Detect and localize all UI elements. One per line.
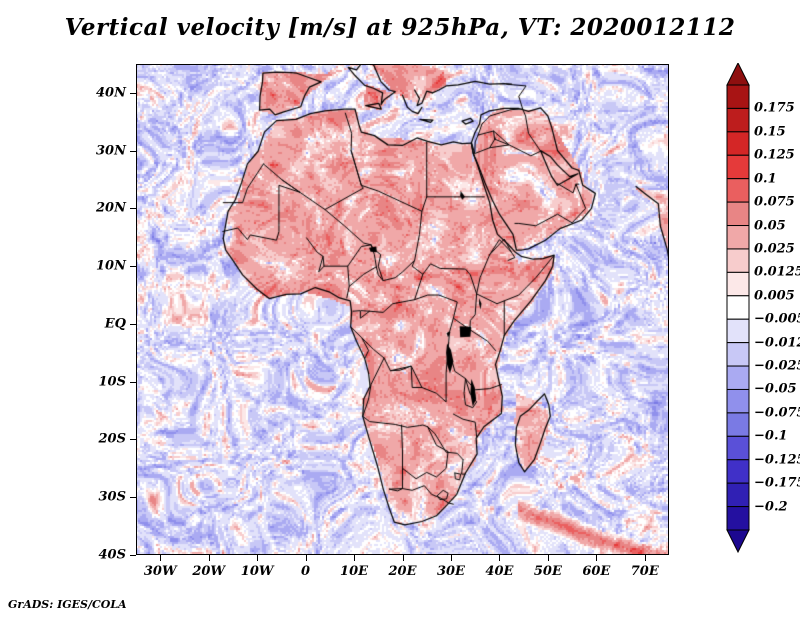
- colorbar-cell[interactable]: [727, 108, 749, 131]
- colorbar-tick-label: 0.05: [754, 218, 786, 233]
- y-axis-tick: [130, 324, 136, 325]
- x-axis-label: 50E: [534, 564, 562, 579]
- colorbar-tick-label: −0.1: [754, 429, 788, 444]
- colorbar-tick-label: −0.005: [754, 312, 800, 327]
- y-axis-tick: [130, 151, 136, 152]
- y-axis-label: 30S: [74, 490, 126, 505]
- y-axis-label: 20N: [74, 201, 126, 216]
- x-axis-label: 10W: [241, 564, 274, 579]
- colorbar-tick-label: 0.15: [754, 124, 786, 139]
- colorbar-cell[interactable]: [727, 296, 749, 319]
- colorbar-swatches: [726, 63, 750, 556]
- y-axis-tick: [130, 382, 136, 383]
- x-axis-label: 20W: [192, 564, 225, 579]
- y-axis-tick: [130, 439, 136, 440]
- x-axis-label: 0: [301, 564, 310, 579]
- x-axis-label: 70E: [631, 564, 659, 579]
- colorbar-tick-label: 0.025: [754, 241, 795, 256]
- x-axis-tick: [451, 555, 452, 561]
- y-axis-label: 40N: [74, 85, 126, 100]
- colorbar-cell[interactable]: [727, 483, 749, 506]
- colorbar-cell[interactable]: [727, 319, 749, 342]
- grads-plot-page: Vertical velocity [m/s] at 925hPa, VT: 2…: [0, 0, 800, 618]
- y-axis-label: 10N: [74, 259, 126, 274]
- x-axis-label: 40E: [485, 564, 513, 579]
- x-axis-label: 60E: [582, 564, 610, 579]
- x-axis-tick: [403, 555, 404, 561]
- colorbar-tick-label: −0.075: [754, 405, 800, 420]
- colorbar-cell[interactable]: [727, 132, 749, 155]
- colorbar-cell[interactable]: [727, 436, 749, 459]
- colorbar-cell[interactable]: [727, 85, 749, 108]
- x-axis-label: 20E: [389, 564, 417, 579]
- colorbar-cap-bottom: [727, 530, 749, 552]
- x-axis-label: 30E: [437, 564, 465, 579]
- coastline-border-overlay: [136, 64, 669, 555]
- x-axis-tick: [645, 555, 646, 561]
- y-axis-tick: [130, 266, 136, 267]
- y-axis-tick: [130, 208, 136, 209]
- y-axis-tick: [130, 93, 136, 94]
- x-axis-tick: [354, 555, 355, 561]
- colorbar-tick-label: 0.175: [754, 101, 795, 116]
- y-axis-label: 40S: [74, 548, 126, 563]
- x-axis-tick: [209, 555, 210, 561]
- colorbar-cell[interactable]: [727, 249, 749, 272]
- colorbar-tick-label: 0.0125: [754, 265, 800, 280]
- x-axis-tick: [257, 555, 258, 561]
- x-axis-tick: [306, 555, 307, 561]
- colorbar-cell[interactable]: [727, 272, 749, 295]
- x-axis-tick: [499, 555, 500, 561]
- x-axis-label: 10E: [340, 564, 368, 579]
- colorbar-cell[interactable]: [727, 507, 749, 530]
- y-axis-tick: [130, 555, 136, 556]
- colorbar-cell[interactable]: [727, 413, 749, 436]
- y-axis-label: EQ: [74, 316, 126, 331]
- colorbar-cell[interactable]: [727, 460, 749, 483]
- y-axis-label: 30N: [74, 143, 126, 158]
- colorbar-tick-label: 0.075: [754, 195, 795, 210]
- y-axis-tick: [130, 497, 136, 498]
- colorbar-tick-label: 0.125: [754, 148, 795, 163]
- x-axis-tick: [548, 555, 549, 561]
- colorbar-tick-label: −0.2: [754, 499, 788, 514]
- colorbar-cell[interactable]: [727, 226, 749, 249]
- colorbar-cell[interactable]: [727, 202, 749, 225]
- colorbar-cell[interactable]: [727, 366, 749, 389]
- colorbar-tick-label: 0.005: [754, 288, 795, 303]
- colorbar-tick-label: −0.125: [754, 452, 800, 467]
- colorbar-tick-label: −0.05: [754, 382, 797, 397]
- y-axis-label: 10S: [74, 374, 126, 389]
- colorbar-tick-label: −0.0125: [754, 335, 800, 350]
- colorbar-cell[interactable]: [727, 389, 749, 412]
- colorbar-tick-label: 0.1: [754, 171, 777, 186]
- y-axis-label: 20S: [74, 432, 126, 447]
- colorbar-tick-label: −0.025: [754, 359, 800, 374]
- x-axis-label: 30W: [144, 564, 177, 579]
- colorbar-cell[interactable]: [727, 179, 749, 202]
- colorbar-cell[interactable]: [727, 155, 749, 178]
- attribution-footer: GrADS: IGES/COLA: [8, 598, 127, 611]
- colorbar-cell[interactable]: [727, 343, 749, 366]
- x-axis-tick: [160, 555, 161, 561]
- page-title: Vertical velocity [m/s] at 925hPa, VT: 2…: [0, 14, 800, 41]
- map-plot-area[interactable]: [136, 64, 669, 555]
- colorbar-tick-label: −0.175: [754, 476, 800, 491]
- colorbar-cap-top: [727, 63, 749, 85]
- x-axis-tick: [596, 555, 597, 561]
- colorbar[interactable]: [726, 63, 750, 556]
